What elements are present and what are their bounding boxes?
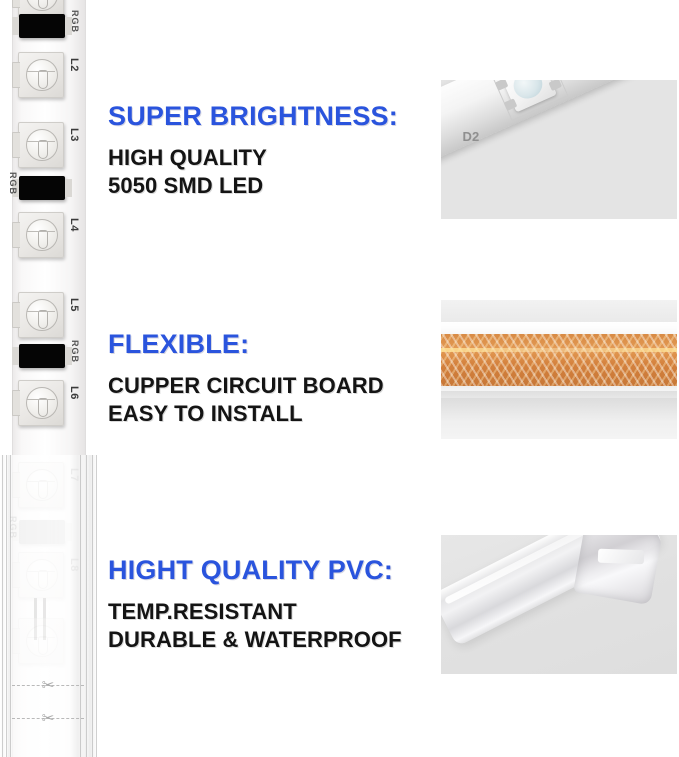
rgb-label: RGB <box>70 10 80 33</box>
resistor-component <box>19 344 65 368</box>
led-label-l6: L6 <box>68 386 80 400</box>
led-label-l3: L3 <box>68 128 80 142</box>
section-heading: FLEXIBLE: <box>108 330 384 360</box>
section-body-line-2: DURABLE & WATERPROOF <box>108 626 402 655</box>
copper-highlight <box>441 348 677 352</box>
section-body-line-2: 5050 SMD LED <box>108 172 398 201</box>
tube-cut-face <box>598 549 644 565</box>
led-dome-icon <box>26 129 58 161</box>
section-heading: SUPER BRIGHTNESS: <box>108 102 398 132</box>
led-label-l2: L2 <box>68 58 80 72</box>
product-photo-pvc-tube <box>441 535 677 674</box>
led-chip-l4 <box>18 212 64 258</box>
section-body: CUPPER CIRCUIT BOARD EASY TO INSTALL <box>108 372 384 429</box>
section-body-line-1: TEMP.RESISTANT <box>108 598 402 627</box>
copper-braid-band <box>441 334 677 386</box>
tube-shadow <box>441 391 677 421</box>
section-flexible: FLEXIBLE: CUPPER CIRCUIT BOARD EASY TO I… <box>108 330 384 429</box>
section-body-line-1: HIGH QUALITY <box>108 144 398 173</box>
cut-mark-2: ✂ <box>12 709 84 729</box>
infographic-page: RGB L2 L3 RGB L4 L5 RGB <box>0 0 679 757</box>
led-chip-l6 <box>18 380 64 426</box>
section-high-quality-pvc: HIGHT QUALITY PVC: TEMP.RESISTANT DURABL… <box>108 556 402 655</box>
cut-mark-1: ✂ <box>12 676 84 696</box>
section-heading: HIGHT QUALITY PVC: <box>108 556 402 586</box>
section-body: HIGH QUALITY 5050 SMD LED <box>108 144 398 201</box>
led-dome-icon <box>509 80 546 103</box>
led-label-l4: L4 <box>68 218 80 232</box>
product-photo-smd-led: R11 D2 + <box>441 80 677 219</box>
led-dome-icon <box>26 0 58 11</box>
rgb-label: RGB <box>70 340 80 363</box>
led-chip-l3 <box>18 122 64 168</box>
scissors-icon: ✂ <box>36 677 60 695</box>
scissors-icon: ✂ <box>36 710 60 728</box>
product-photo-copper-board <box>441 300 677 439</box>
led-strip-graphic: RGB L2 L3 RGB L4 L5 RGB <box>0 0 100 757</box>
led-dome-icon <box>26 59 58 91</box>
section-body-line-1: CUPPER CIRCUIT BOARD <box>108 372 384 401</box>
led-dome-icon <box>26 299 58 331</box>
section-super-brightness: SUPER BRIGHTNESS: HIGH QUALITY 5050 SMD … <box>108 102 398 201</box>
led-chip-l5 <box>18 292 64 338</box>
resistor-component <box>19 176 65 200</box>
resistor-component <box>19 14 65 38</box>
section-body-line-2: EASY TO INSTALL <box>108 400 384 429</box>
led-chip-l2 <box>18 52 64 98</box>
led-label-l5: L5 <box>68 298 80 312</box>
diode-silk-label: D2 <box>463 129 480 144</box>
led-dome-icon <box>26 387 58 419</box>
rgb-label: RGB <box>8 172 18 195</box>
section-body: TEMP.RESISTANT DURABLE & WATERPROOF <box>108 598 402 655</box>
led-dome-icon <box>26 219 58 251</box>
